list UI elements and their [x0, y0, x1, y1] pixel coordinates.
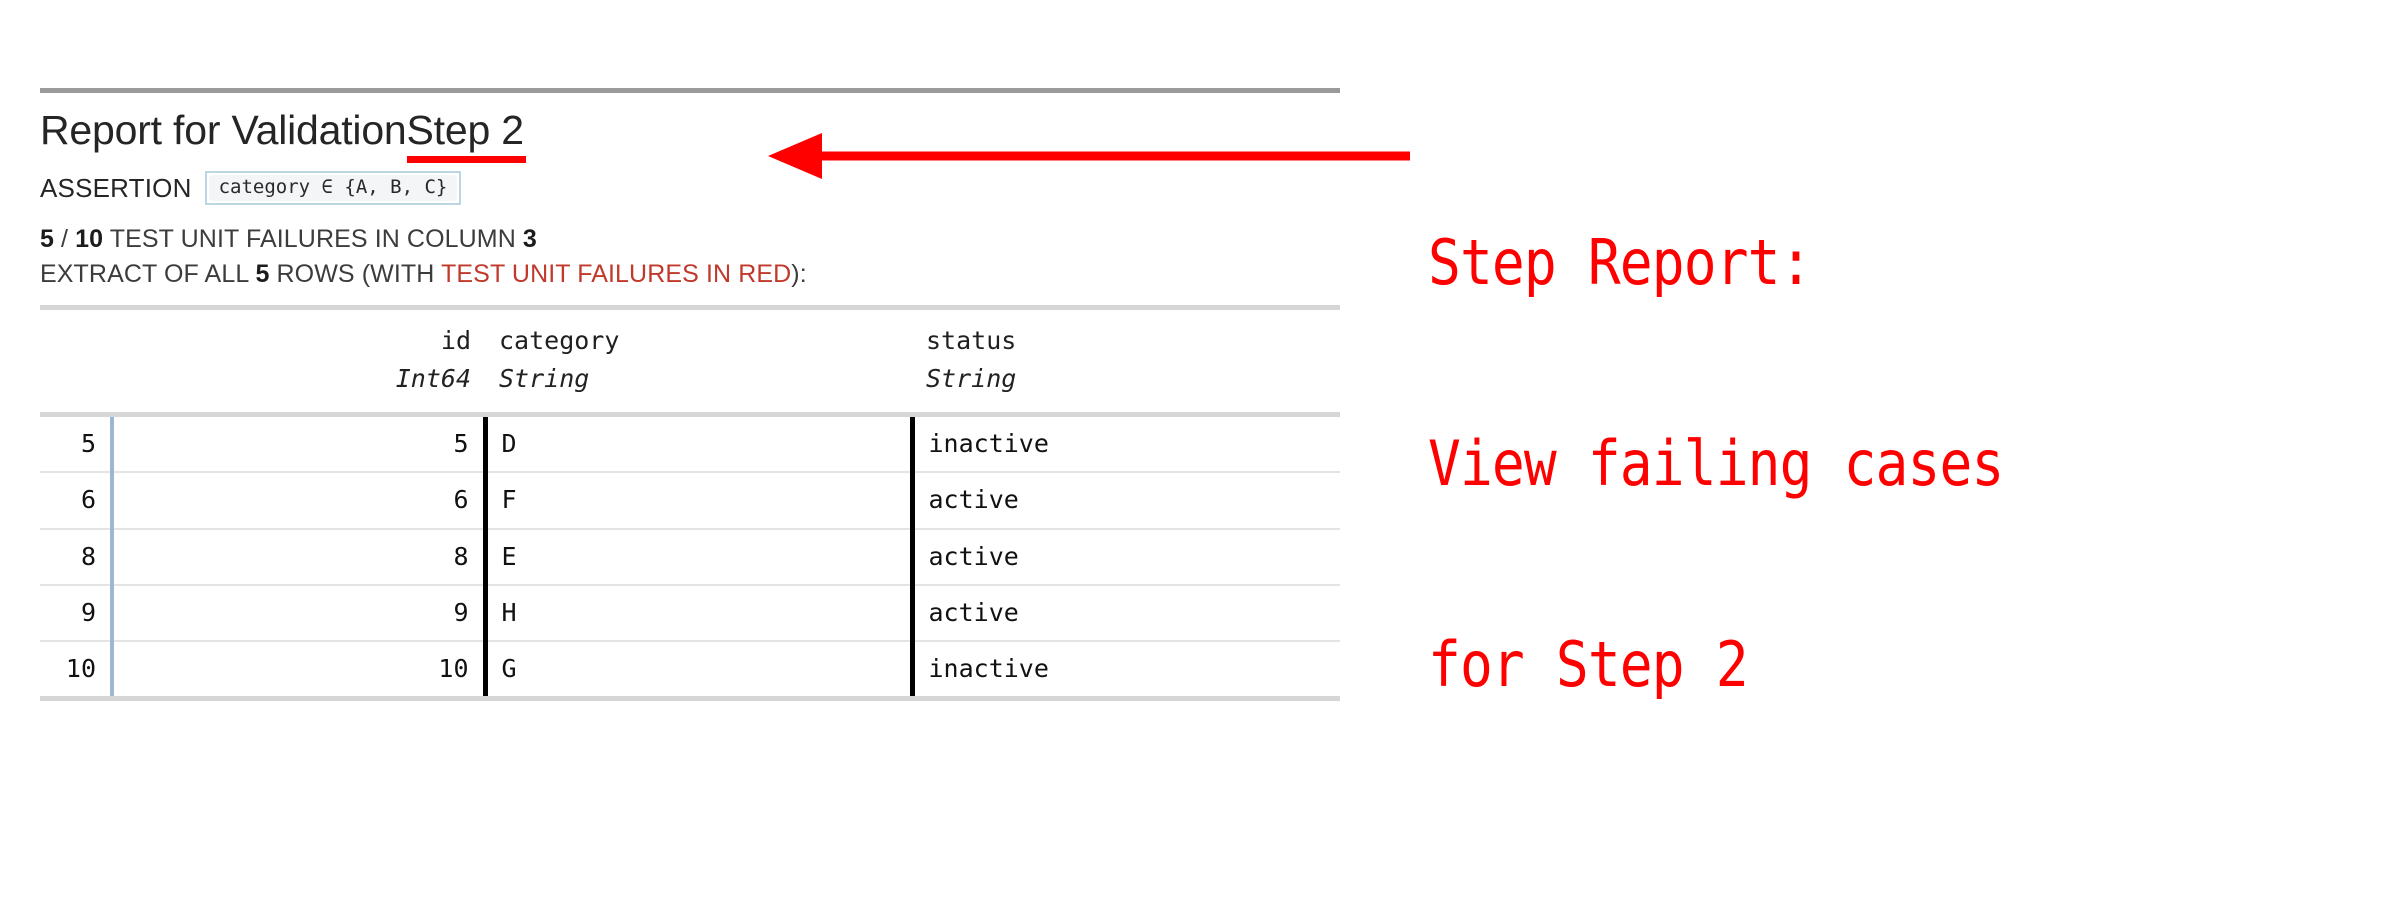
row-index-cell: 8: [40, 529, 112, 585]
annotation-line-3: for Step 2: [1428, 634, 2003, 696]
table-row[interactable]: 99Hactive: [40, 585, 1340, 641]
column-header-category-type: String: [499, 360, 898, 398]
row-index-cell: 5: [40, 415, 112, 473]
table-row[interactable]: 88Eactive: [40, 529, 1340, 585]
cell-id: 5: [112, 415, 485, 473]
annotation-line-2: View failing cases: [1428, 433, 2003, 495]
table-header: id Int64 category String status String: [40, 308, 1340, 415]
failure-count: 5: [40, 225, 54, 253]
assertion-expression: category ∈ {A, B, C}: [209, 175, 458, 201]
cell-id: 8: [112, 529, 485, 585]
cell-status: active: [912, 472, 1340, 528]
cell-status: active: [912, 585, 1340, 641]
cell-id: 10: [112, 641, 485, 699]
failure-summary-text: TEST UNIT FAILURES IN COLUMN: [103, 225, 523, 253]
extract-red-legend: TEST UNIT FAILURES IN RED: [441, 260, 791, 288]
row-index-cell: 10: [40, 641, 112, 699]
row-index-cell: 9: [40, 585, 112, 641]
extract-row-count: 5: [255, 260, 269, 288]
column-header-index-type: [54, 322, 98, 360]
table-body: 55Dinactive66Factive88Eactive99Hactive10…: [40, 415, 1340, 699]
extract-prefix: EXTRACT OF ALL: [40, 260, 255, 288]
column-header-status-type: String: [926, 360, 1326, 398]
table-row[interactable]: 55Dinactive: [40, 415, 1340, 473]
assertion-expression-box: category ∈ {A, B, C}: [205, 171, 462, 205]
page-title-step: Step 2: [407, 110, 524, 151]
extract-suffix: ):: [791, 260, 806, 288]
table-row[interactable]: 66Factive: [40, 472, 1340, 528]
cell-id: 9: [112, 585, 485, 641]
cell-category-failure: H: [485, 585, 912, 641]
table-row[interactable]: 1010Ginactive: [40, 641, 1340, 699]
row-index-cell: 6: [40, 472, 112, 528]
column-header-id[interactable]: id Int64: [112, 308, 485, 415]
cell-status: inactive: [912, 641, 1340, 699]
column-header-status-label: status: [926, 326, 1016, 355]
cell-category-failure: D: [485, 415, 912, 473]
extract-middle: ROWS (WITH: [269, 260, 441, 288]
failure-summary: 5 / 10 TEST UNIT FAILURES IN COLUMN 3 EX…: [40, 222, 1340, 291]
page-title-prefix: Report for Validation: [40, 110, 407, 151]
annotation-arrow: [760, 126, 1420, 186]
failure-summary-line-1: 5 / 10 TEST UNIT FAILURES IN COLUMN 3: [40, 222, 1340, 257]
cell-status: inactive: [912, 415, 1340, 473]
column-header-category[interactable]: category String: [485, 308, 912, 415]
panel-top-divider: [40, 88, 1340, 93]
failure-summary-line-2: EXTRACT OF ALL 5 ROWS (WITH TEST UNIT FA…: [40, 257, 1340, 292]
column-header-status[interactable]: status String: [912, 308, 1340, 415]
column-header-category-label: category: [499, 326, 619, 355]
failing-rows-table: id Int64 category String status String: [40, 305, 1340, 701]
cell-category-failure: E: [485, 529, 912, 585]
cell-id: 6: [112, 472, 485, 528]
assertion-label: ASSERTION: [40, 173, 192, 204]
column-header-id-type: Int64: [126, 360, 471, 398]
column-header-id-label: id: [441, 326, 471, 355]
failure-count-separator: /: [54, 225, 75, 253]
failure-column-number: 3: [523, 225, 537, 253]
cell-category-failure: G: [485, 641, 912, 699]
column-header-index: [40, 308, 112, 415]
cell-status: active: [912, 529, 1340, 585]
annotation-line-1: Step Report:: [1428, 232, 2003, 294]
cell-category-failure: F: [485, 472, 912, 528]
annotation-text: Step Report: View failing cases for Step…: [1428, 108, 2003, 773]
total-count: 10: [75, 225, 103, 253]
